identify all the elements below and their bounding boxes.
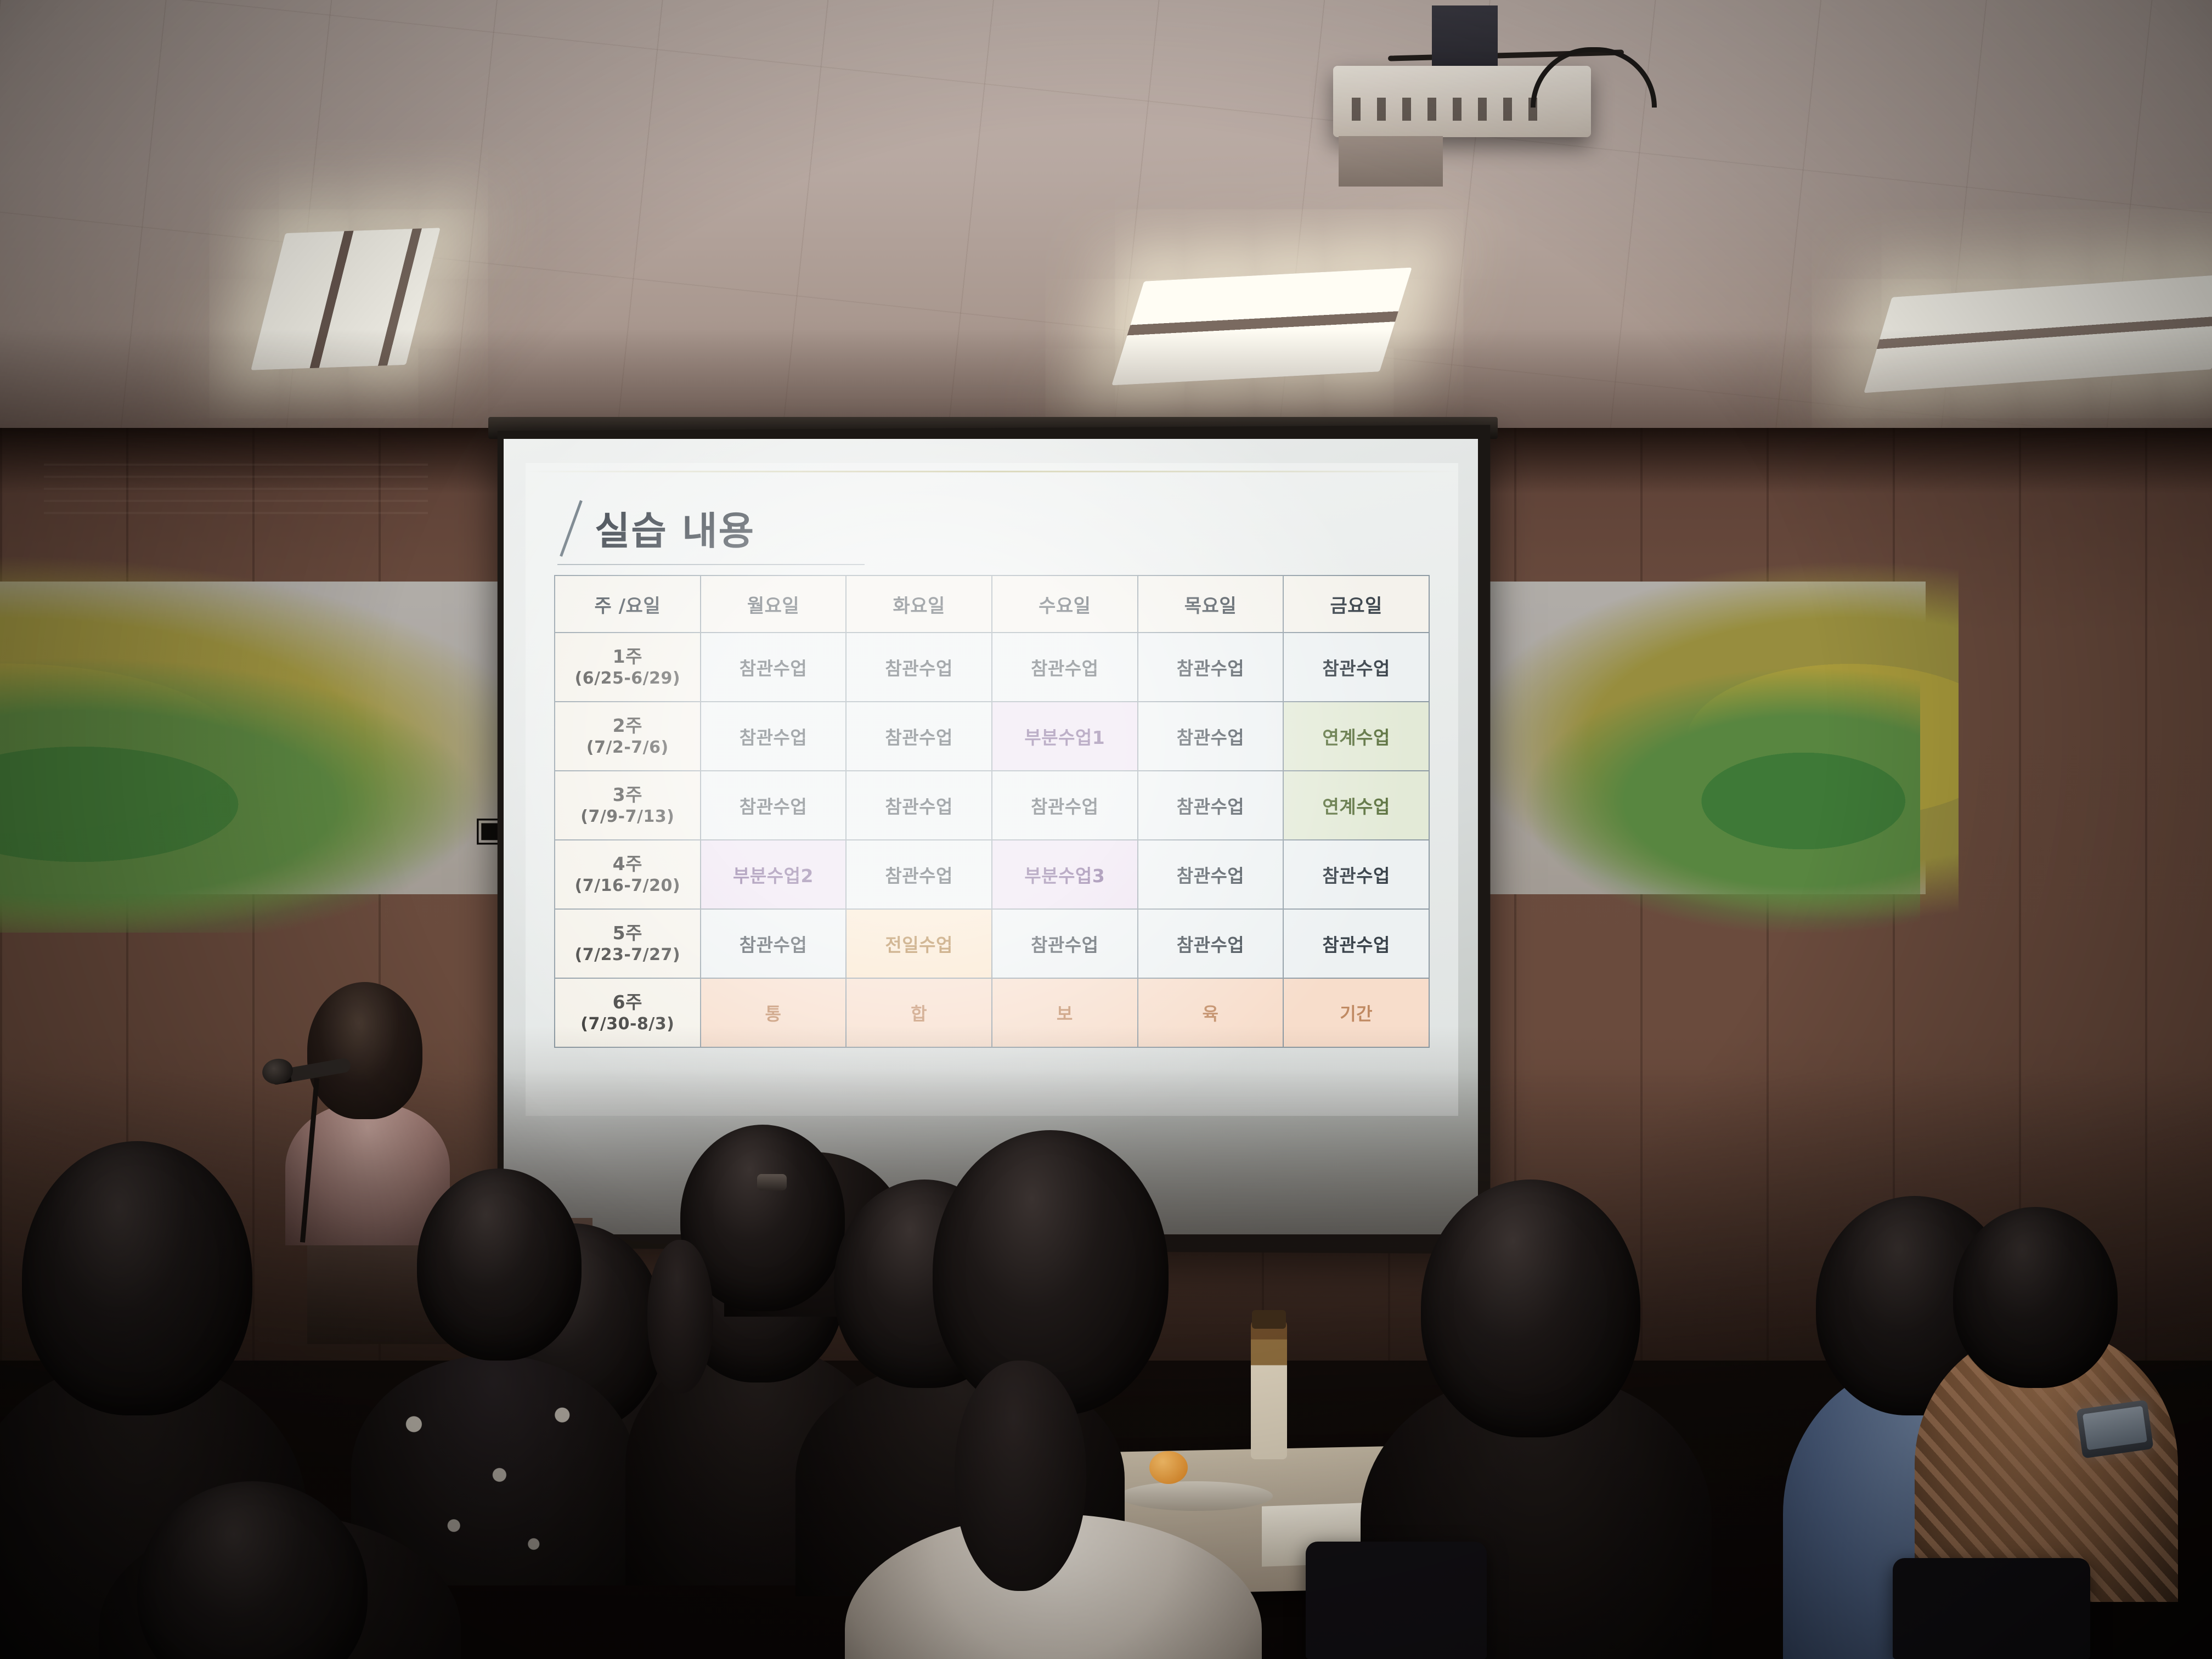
- slide-title-underline: [557, 564, 865, 565]
- schedule-cell: 참관수업: [846, 840, 992, 909]
- week-dates: (7/9-7/13): [555, 806, 700, 827]
- schedule-cell: 참관수업: [1138, 633, 1284, 702]
- schedule-cell: 참관수업: [701, 633, 847, 702]
- lecture-hall-photo: 20 회 ▣일시: 2018 아교육과 실습 내용 주 /요일: [0, 0, 2212, 1659]
- slide-title: 실습 내용: [595, 500, 755, 556]
- schedule-cell: 참관수업: [846, 633, 992, 702]
- hair-clip: [757, 1174, 787, 1190]
- row-header-week: 4주(7/16-7/20): [555, 840, 701, 909]
- schedule-cell: 참관수업: [701, 702, 847, 771]
- table-header-row: 주 /요일 월요일 화요일 수요일 목요일 금요일: [555, 575, 1429, 633]
- table-row: 1주(6/25-6/29)참관수업참관수업참관수업참관수업참관수업: [555, 633, 1429, 702]
- projector-vent: [1352, 98, 1549, 121]
- schedule-cell: 참관수업: [701, 909, 847, 978]
- schedule-cell: 전일수업: [846, 909, 992, 978]
- ponytail: [647, 1240, 713, 1393]
- schedule-cell: 참관수업: [846, 771, 992, 840]
- audience-head: [22, 1141, 252, 1415]
- schedule-cell: 합: [846, 978, 992, 1047]
- schedule-cell: 연계수업: [1283, 702, 1429, 771]
- schedule-cell: 참관수업: [992, 909, 1138, 978]
- week-dates: (7/16-7/20): [555, 876, 700, 896]
- col-header-wednesday: 수요일: [992, 575, 1138, 633]
- projector-ceiling-bracket: [1432, 5, 1498, 74]
- audience-head: [417, 1169, 582, 1361]
- slide-top-accent-line: [526, 471, 1458, 472]
- schedule-cell: 참관수업: [846, 702, 992, 771]
- table-row: 4주(7/16-7/20)부분수업2참관수업부분수업3참관수업참관수업: [555, 840, 1429, 909]
- schedule-cell: 부분수업2: [701, 840, 847, 909]
- practicum-schedule-table: 주 /요일 월요일 화요일 수요일 목요일 금요일 1주(6/25-6/29)참…: [554, 575, 1430, 1048]
- week-dates: (6/25-6/29): [555, 668, 700, 689]
- col-header-friday: 금요일: [1283, 575, 1429, 633]
- row-header-week: 2주(7/2-7/6): [555, 702, 701, 771]
- schedule-cell: 참관수업: [701, 771, 847, 840]
- chair: [1893, 1558, 2090, 1659]
- week-number: 2주: [555, 714, 700, 737]
- wall-vent-grille: [44, 464, 428, 518]
- schedule-cell: 참관수업: [1283, 633, 1429, 702]
- schedule-cell: 참관수업: [1138, 840, 1284, 909]
- schedule-cell: 참관수업: [992, 771, 1138, 840]
- row-header-week: 3주(7/9-7/13): [555, 771, 701, 840]
- table-row: 6주(7/30-8/3)통합보육기간: [555, 978, 1429, 1047]
- orange-fruit: [1149, 1451, 1188, 1484]
- slide-title-area: 실습 내용: [554, 487, 1430, 569]
- schedule-cell: 육: [1138, 978, 1284, 1047]
- schedule-cell: 참관수업: [992, 633, 1138, 702]
- table-row: 3주(7/9-7/13)참관수업참관수업참관수업참관수업연계수업: [555, 771, 1429, 840]
- week-dates: (7/23-7/27): [555, 945, 700, 966]
- presentation-slide: 실습 내용 주 /요일 월요일 화요일 수요일 목요일 금요일 1주(6/25-…: [526, 463, 1458, 1116]
- col-header-monday: 월요일: [701, 575, 847, 633]
- slide-title-slash-icon: [560, 500, 583, 557]
- week-number: 1주: [555, 645, 700, 668]
- bottle-cap: [1252, 1310, 1286, 1329]
- schedule-cell: 참관수업: [1138, 909, 1284, 978]
- ponytail: [955, 1361, 1086, 1591]
- schedule-cell: 보: [992, 978, 1138, 1047]
- schedule-cell: 부분수업3: [992, 840, 1138, 909]
- plate: [1119, 1481, 1273, 1511]
- row-header-week: 5주(7/23-7/27): [555, 909, 701, 978]
- schedule-cell: 참관수업: [1283, 909, 1429, 978]
- col-header-tuesday: 화요일: [846, 575, 992, 633]
- audience-head: [1421, 1180, 1640, 1437]
- schedule-cell: 부분수업1: [992, 702, 1138, 771]
- schedule-cell: 연계수업: [1283, 771, 1429, 840]
- week-number: 5주: [555, 922, 700, 945]
- week-dates: (7/30-8/3): [555, 1014, 700, 1035]
- schedule-cell: 참관수업: [1283, 840, 1429, 909]
- table-row: 2주(7/2-7/6)참관수업참관수업부분수업1참관수업연계수업: [555, 702, 1429, 771]
- week-number: 4주: [555, 853, 700, 876]
- chair: [1306, 1542, 1487, 1659]
- beverage-bottle: [1251, 1317, 1287, 1459]
- table-row: 5주(7/23-7/27)참관수업전일수업참관수업참관수업참관수업: [555, 909, 1429, 978]
- row-header-week: 1주(6/25-6/29): [555, 633, 701, 702]
- week-number: 6주: [555, 991, 700, 1014]
- table-body: 1주(6/25-6/29)참관수업참관수업참관수업참관수업참관수업2주(7/2-…: [555, 633, 1429, 1047]
- week-dates: (7/2-7/6): [555, 737, 700, 758]
- week-number: 3주: [555, 783, 700, 806]
- schedule-cell: 기간: [1283, 978, 1429, 1047]
- audience-head: [1953, 1207, 2118, 1388]
- projector-junction-box: [1339, 136, 1443, 187]
- schedule-cell: 참관수업: [1138, 771, 1284, 840]
- col-header-week: 주 /요일: [555, 575, 701, 633]
- row-header-week: 6주(7/30-8/3): [555, 978, 701, 1047]
- schedule-cell: 통: [701, 978, 847, 1047]
- col-header-thursday: 목요일: [1138, 575, 1284, 633]
- schedule-cell: 참관수업: [1138, 702, 1284, 771]
